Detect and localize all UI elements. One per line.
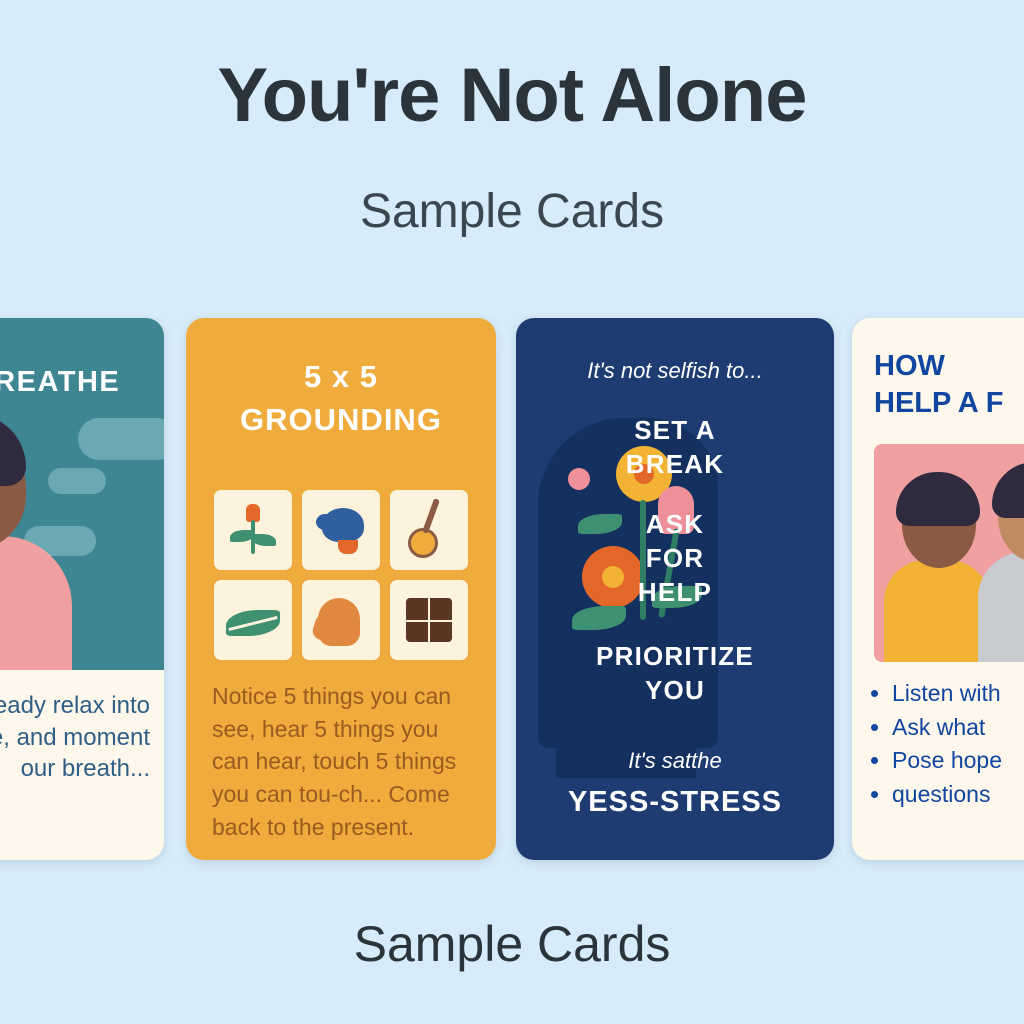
person-a-hair	[896, 472, 980, 526]
breathe-illustration: BREATHE	[0, 318, 164, 670]
leaf-icon	[214, 580, 292, 660]
breathe-card-heading: BREATHE	[0, 366, 164, 399]
cloud-icon	[78, 418, 164, 460]
list-item: Listen with	[892, 678, 1024, 710]
person-hair	[0, 414, 26, 486]
grounding-icon-grid	[214, 490, 468, 660]
grounding-heading-line1: 5 x 5	[186, 356, 496, 399]
grounding-heading-line2: GROUNDING	[186, 399, 496, 442]
breathe-card[interactable]: BREATHE steady relax into hale, and mome…	[0, 318, 164, 860]
grounding-card-heading: 5 x 5 GROUNDING	[186, 356, 496, 442]
how-to-help-illustration	[874, 444, 1024, 662]
not-selfish-line-a: SET A BREAK	[516, 414, 834, 482]
list-item: Ask what	[892, 712, 1024, 744]
list-item: questions	[892, 779, 1024, 811]
how-to-help-heading: HOW HELP A F	[874, 348, 1024, 421]
how-to-help-heading-line1: HOW	[874, 348, 1024, 385]
grounding-card[interactable]: 5 x 5 GROUNDING	[186, 318, 496, 860]
not-selfish-line-c: PRIORITIZE YOU	[516, 640, 834, 708]
hand-icon	[302, 580, 380, 660]
not-selfish-line-b: ASK FOR HELP	[516, 508, 834, 609]
not-selfish-line-e: YESS-STRESS	[516, 786, 834, 819]
tulip-icon	[214, 490, 292, 570]
banjo-icon	[390, 490, 468, 570]
not-selfish-card[interactable]: It's not selfish to... SET A BREAK ASK F…	[516, 318, 834, 860]
how-to-help-heading-line2: HELP A F	[874, 385, 1024, 422]
person-body	[0, 536, 72, 670]
chocolate-icon	[390, 580, 468, 660]
bird-icon	[302, 490, 380, 570]
page-footer-title: Sample Cards	[0, 915, 1024, 973]
person-b-hair	[992, 462, 1024, 518]
how-to-help-bullets: Listen with Ask what Pose hope questions	[874, 678, 1024, 813]
cloud-icon	[48, 468, 106, 494]
list-item: Pose hope	[892, 745, 1024, 777]
person-b-shirt	[978, 552, 1024, 662]
grounding-card-body: Notice 5 things you can see, hear 5 thin…	[186, 680, 496, 843]
breathe-card-body: steady relax into hale, and moment our b…	[0, 690, 164, 785]
how-to-help-card[interactable]: HOW HELP A F Listen with Ask what Pose h…	[852, 318, 1024, 860]
not-selfish-line-d: It's satthe	[516, 748, 834, 774]
page-title: You're Not Alone	[0, 56, 1024, 136]
page-subtitle: Sample Cards	[0, 184, 1024, 239]
not-selfish-intro: It's not selfish to...	[516, 358, 834, 384]
person-a-shirt	[884, 560, 990, 662]
